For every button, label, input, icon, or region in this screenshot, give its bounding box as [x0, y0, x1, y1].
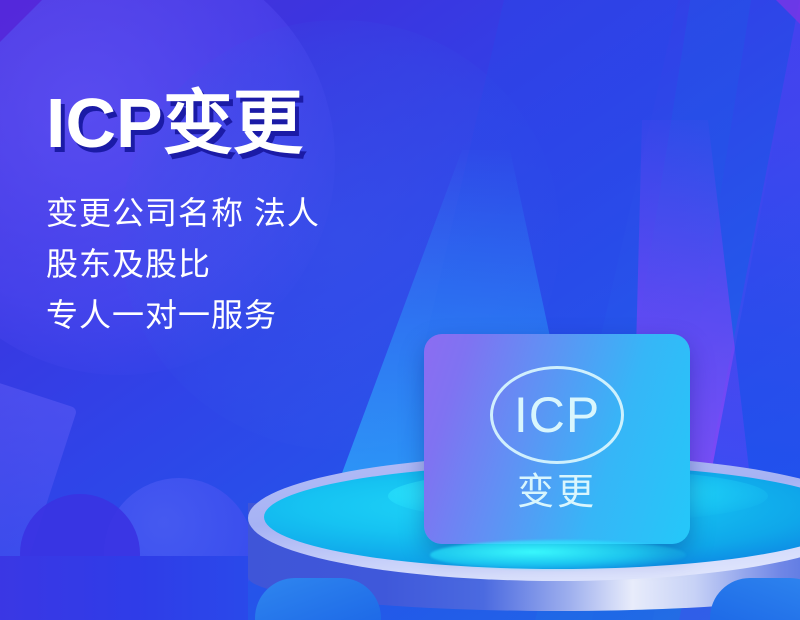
- subtitle-line-2: 股东及股比: [46, 245, 446, 284]
- banner-canvas: ICP 变更 ICP变更 变更公司名称 法人 股东及股比 专人一对一服务: [0, 0, 800, 620]
- foreground-round-bottom-left-icon: [255, 578, 381, 620]
- page-title: ICP变更: [46, 86, 446, 160]
- subtitle-line-3: 专人一对一服务: [46, 296, 446, 335]
- icp-card-content: ICP 变更: [424, 334, 690, 544]
- icp-card-caption: 变更: [517, 472, 597, 513]
- corner-wedge-top-right-icon: [775, 0, 800, 25]
- icp-badge: ICP: [490, 366, 624, 464]
- subtitle-line-1: 变更公司名称 法人: [46, 194, 446, 233]
- copy-block: ICP变更 变更公司名称 法人 股东及股比 专人一对一服务: [46, 86, 446, 335]
- subtitle-list: 变更公司名称 法人 股东及股比 专人一对一服务: [46, 194, 446, 335]
- foreground-block-left-icon: [0, 556, 248, 620]
- icp-card[interactable]: ICP 变更: [424, 334, 690, 544]
- card-glow-icon: [430, 540, 686, 570]
- icp-badge-text: ICP: [514, 390, 600, 440]
- corner-wedge-top-left-icon: [0, 0, 44, 44]
